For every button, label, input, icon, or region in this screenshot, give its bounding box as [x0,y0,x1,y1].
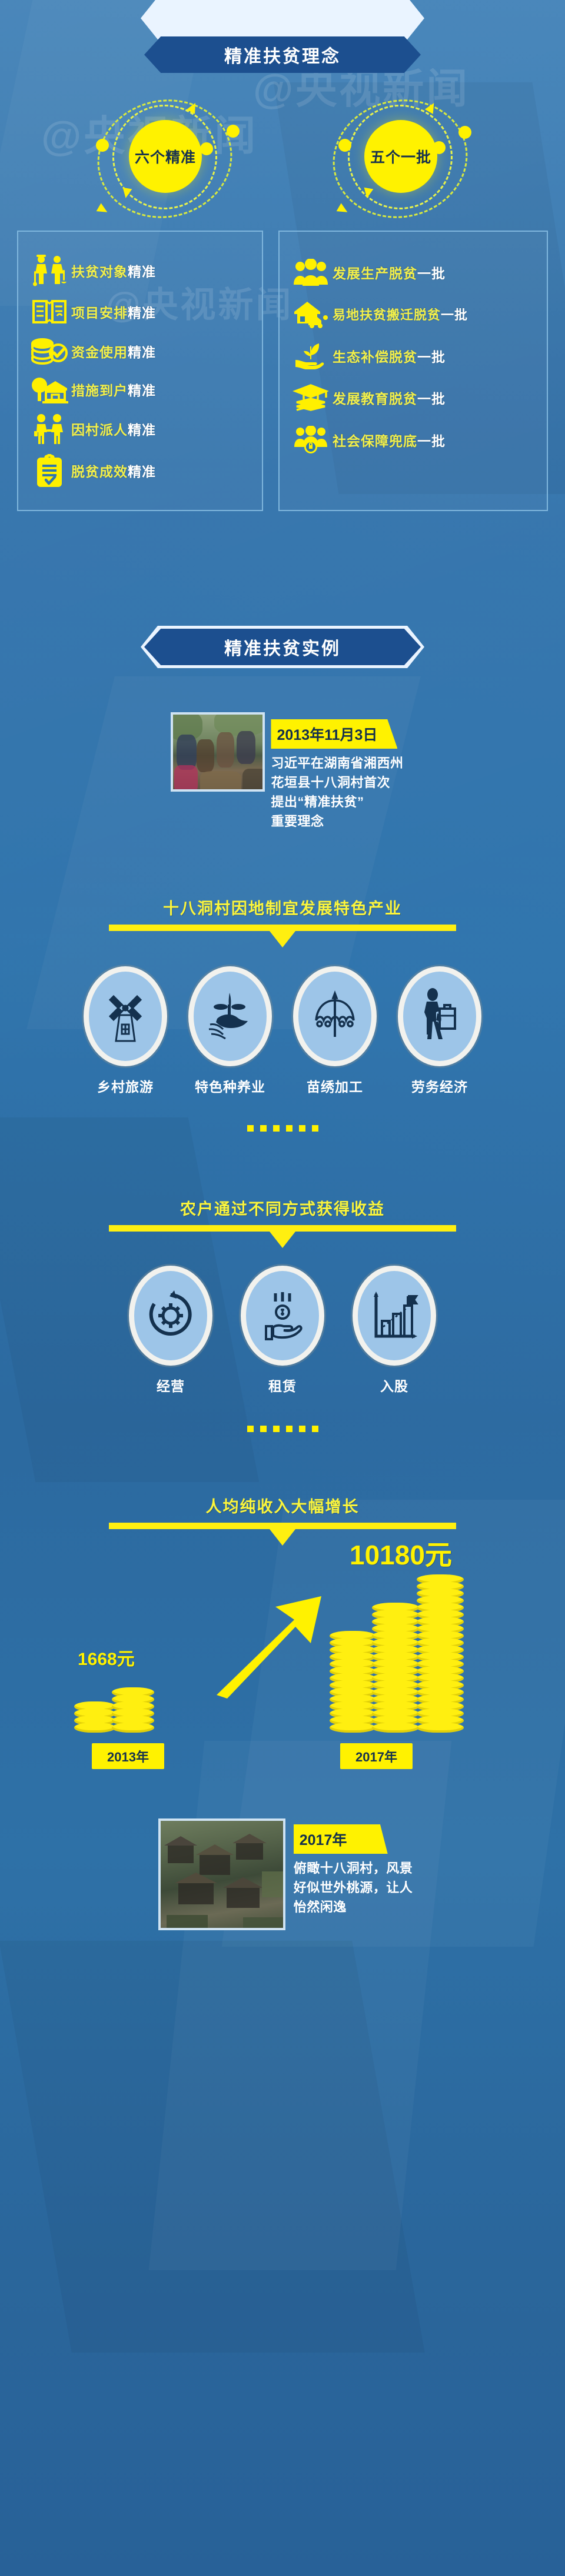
caption-line: 重要理念 [271,812,403,831]
heading-industries: 十八洞村因地制宜发展特色产业 [0,896,565,919]
rule-arrow-growth [109,1523,456,1529]
list-item: 因村派人精准 [28,413,252,444]
hand-leaf-icon [289,342,333,369]
house-truck-icon [289,300,333,328]
medal-operation: 经营 [129,1266,212,1395]
badge-label-five-batches: 五个一批 [364,120,437,193]
date-tag-2013: 2013年11月3日 [271,719,397,749]
windmill-icon [102,988,149,1045]
list-item-label: 措施到户精准 [71,379,156,399]
list-item: 社会保障兜底一批 [289,426,537,454]
list-item: 项目安排精准 [28,296,252,327]
list-item: 发展教育脱贫一批 [289,383,537,412]
panel-five-batches: 发展生产脱贫一批 易地扶贫搬迁脱贫一批 [278,231,548,511]
embroidery-needle-icon [309,989,361,1045]
list-item: 生态补偿脱贫一批 [289,342,537,369]
chart-value-2013: 1668元 [78,1644,135,1670]
open-book-icon [28,296,71,327]
list-item-label: 项目安排精准 [71,302,156,322]
house-tree-icon [28,375,71,403]
list-item-label: 因村派人精准 [71,419,156,439]
medal-rural-tourism: 乡村旅游 [84,966,167,1096]
date-tag-2017: 2017年 [294,1824,388,1854]
coin-stack-2013 [74,1704,115,1733]
medal-leasing: 租赁 [241,1266,324,1395]
caption-2013: 习近平在湖南省湘西州 花垣县十八洞村首次 提出“精准扶贫” 重要理念 [271,753,403,831]
section-banner-example: 精准扶贫实例 [0,511,565,665]
list-item: 资金使用精准 [28,337,252,365]
list-item: 发展生产脱贫一批 [289,259,537,286]
hand-sprout-icon [204,988,256,1045]
chart-category-2017: 2017年 [340,1743,413,1769]
caption-line: 俯瞰十八洞村，风景 [294,1858,413,1878]
gear-cycle-icon [145,1288,197,1344]
graduation-books-icon [289,383,333,412]
medal-specialty-farming: 特色种养业 [188,966,272,1096]
caption-line: 花垣县十八洞村首次 [271,773,403,792]
industry-medallions: 乡村旅游 特色种养业 [0,966,565,1096]
heading-income-methods: 农户通过不同方式获得收益 [0,1196,565,1219]
caption-line: 习近平在湖南省湘西州 [271,753,403,773]
list-item-label: 生态补偿脱贫一批 [333,346,446,366]
list-item-label: 发展生产脱贫一批 [333,262,446,282]
list-item-label: 社会保障兜底一批 [333,430,446,450]
income-growth-chart: 10180元 1668元 [0,1529,565,1776]
section-banner-concept: 精准扶贫理念 [0,0,565,73]
medal-label: 特色种养业 [188,1076,272,1096]
heading-income-growth: 人均纯收入大幅增长 [0,1494,565,1517]
medal-label: 劳务经济 [398,1076,481,1096]
list-six-precisions: 扶贫对象精准 项目安排精准 [28,255,252,487]
medal-label: 苗绣加工 [293,1076,377,1096]
badge-five-batches: 五个一批 [321,100,480,218]
caption-line: 怡然闲逸 [294,1897,413,1917]
chart-category-2013: 2013年 [92,1743,164,1769]
banner-title-concept: 精准扶贫理念 [144,36,421,73]
coin-stack-2017 [372,1606,419,1733]
growth-arrow-icon [212,1594,324,1703]
separator-dots [0,1426,565,1432]
medal-label: 经营 [129,1375,212,1395]
rule-arrow-income [109,1225,456,1232]
list-item-label: 资金使用精准 [71,341,156,361]
bar-growth-flag-icon [369,1288,420,1344]
list-item-label: 易地扶贫搬迁脱贫一批 [333,305,468,323]
coin-stack-2013 [112,1690,154,1733]
coin-stack-2017 [330,1634,375,1733]
coin-stack-2017 [417,1577,464,1733]
photo-aerial-village [158,1818,285,1930]
list-item: 扶贫对象精准 [28,255,252,286]
chart-value-2017: 10180元 [350,1534,452,1573]
people-lock-icon [289,426,333,454]
medal-label: 乡村旅游 [84,1076,167,1096]
list-five-batches: 发展生产脱贫一批 易地扶贫搬迁脱贫一批 [289,259,537,454]
worker-carrying-box-icon [416,987,463,1046]
medal-miao-embroidery: 苗绣加工 [293,966,377,1096]
separator-dots [0,1125,565,1132]
clipboard-check-icon [28,454,71,487]
medal-label: 入股 [353,1375,436,1395]
panel-six-precisions: 扶贫对象精准 项目安排精准 [17,231,263,511]
coins-check-icon [28,337,71,365]
list-item: 易地扶贫搬迁脱贫一批 [289,300,537,328]
list-item-label: 发展教育脱贫一批 [333,388,446,408]
badge-label-six-precisions: 六个精准 [129,120,202,193]
list-item: 措施到户精准 [28,375,252,403]
two-people-icon [28,413,71,444]
photo-xi-villagers [171,712,265,792]
rule-arrow-industries [109,925,456,931]
caption-line: 提出“精准扶贫” [271,792,403,812]
badge-six-precisions: 六个精准 [85,100,244,218]
two-farmers-icon [28,255,71,286]
caption-2017: 俯瞰十八洞村，风景 好似世外桃源，让人 怡然闲逸 [294,1858,413,1917]
list-item-label: 脱贫成效精准 [71,461,156,481]
caption-line: 好似世外桃源，让人 [294,1878,413,1897]
medal-labor-economy: 劳务经济 [398,966,481,1096]
medal-label: 租赁 [241,1375,324,1395]
people-group-icon [289,259,333,286]
banner-title-example: 精准扶贫实例 [144,629,421,665]
medal-shareholding: 入股 [353,1266,436,1395]
list-item-label: 扶贫对象精准 [71,261,156,281]
list-item: 脱贫成效精准 [28,454,252,487]
hand-coin-icon [258,1287,307,1344]
income-medallions: 经营 租赁 [0,1266,565,1395]
